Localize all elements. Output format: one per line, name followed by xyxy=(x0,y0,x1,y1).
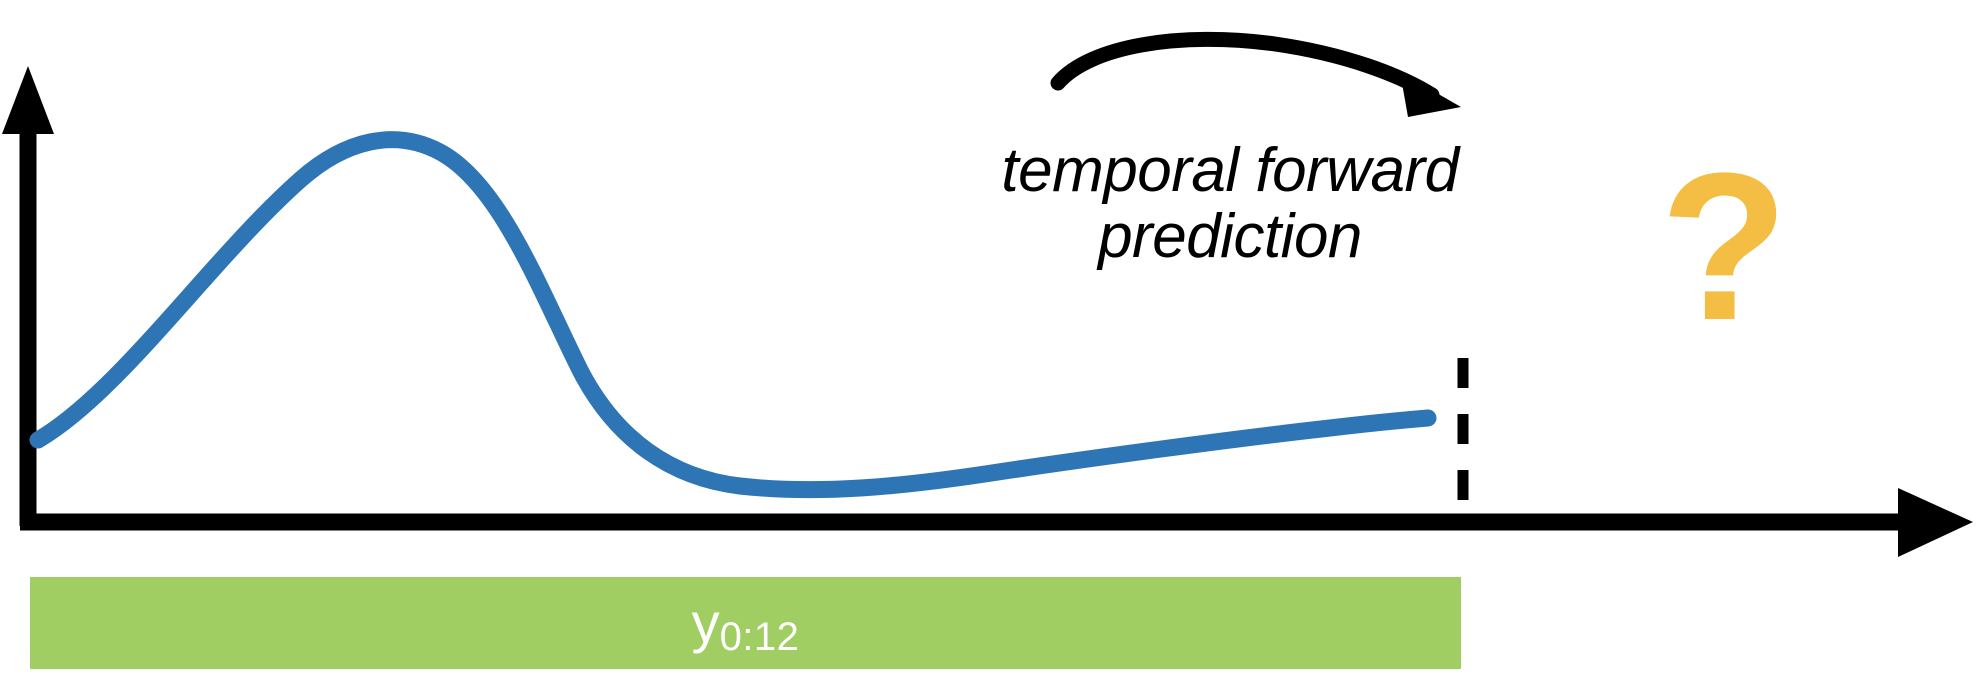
annotation-line-1: temporal forward xyxy=(1000,138,1460,204)
question-mark-icon: ? xyxy=(1660,142,1788,352)
x-axis xyxy=(20,488,1973,557)
observed-span-label-subscript: 0:12 xyxy=(720,617,800,657)
y-axis-arrowhead-icon xyxy=(2,66,54,134)
y-axis xyxy=(2,66,54,526)
observed-span-bar: y0:12 xyxy=(30,577,1461,669)
annotation-line-2: prediction xyxy=(1000,204,1460,270)
x-axis-arrowhead-icon xyxy=(1898,488,1973,557)
observed-span-label-base: y xyxy=(692,595,720,651)
observed-span-label: y0:12 xyxy=(692,595,800,651)
annotation-temporal-forward-prediction: temporal forward prediction xyxy=(1000,138,1460,269)
figure-canvas: temporal forward prediction ? y0:12 xyxy=(0,0,1977,692)
curved-forward-arrow-icon xyxy=(1058,39,1461,117)
